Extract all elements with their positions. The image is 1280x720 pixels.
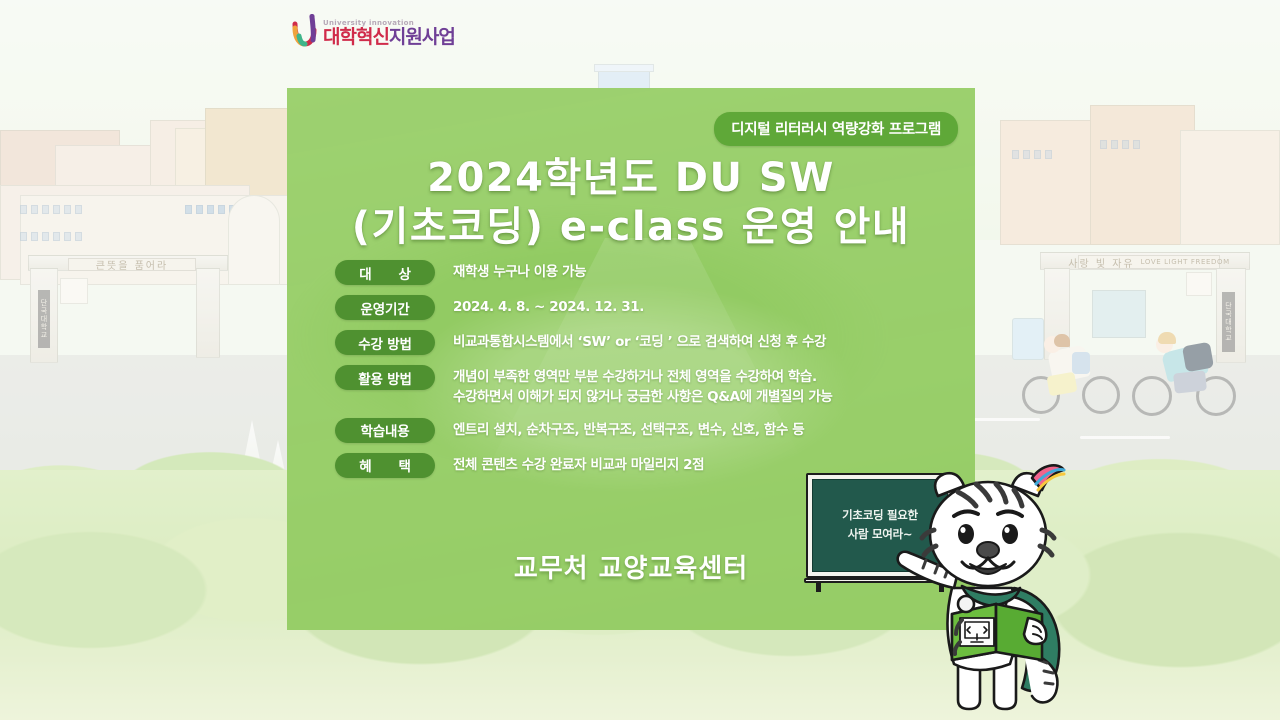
info-value-usage-method: 개념이 부족한 영역만 부분 수강하거나 전체 영역을 수강하여 학습. 수강하… (435, 365, 935, 408)
logo-kr-label: 대학혁신지원사업 (323, 28, 455, 47)
info-row: 활용 방법 개념이 부족한 영역만 부분 수강하거나 전체 영역을 수강하여 학… (335, 365, 935, 408)
poster-canvas: 큰뜻을 품어라 단국대학교 사랑 빛 자유 LOVE LIGHT FREEDOM… (0, 0, 1280, 720)
info-value-benefit: 전체 콘텐츠 수강 완료자 비교과 마일리지 2점 (435, 453, 935, 475)
info-value-line: 2024. 4. 8. ~ 2024. 12. 31. (453, 297, 935, 317)
program-badge: 디지털 리터러시 역량강화 프로그램 (714, 112, 958, 146)
info-value-line: 비교과통합시스템에서 ‘SW’ or ‘코딩 ’ 으로 검색하여 신청 후 수강 (453, 332, 935, 352)
page-title: 2024학년도 DU SW (기초코딩) e-class 운영 안내 (287, 154, 975, 252)
page-title-line2: (기초코딩) e-class 운영 안내 (287, 203, 975, 252)
info-value-enrollment-method: 비교과통합시스템에서 ‘SW’ or ‘코딩 ’ 으로 검색하여 신청 후 수강 (435, 330, 935, 352)
info-label-curriculum: 학습내용 (335, 418, 435, 443)
ui-logo-mark-icon (292, 14, 318, 48)
info-value-line: 엔트리 설치, 순차구조, 반복구조, 선택구조, 변수, 신호, 함수 등 (453, 420, 935, 440)
white-tiger-mascot (896, 438, 1106, 720)
info-value-line: 재학생 누구나 이용 가능 (453, 262, 935, 282)
info-label-enrollment-method: 수강 방법 (335, 330, 435, 355)
logo-kr-part2: 지원사업 (389, 26, 455, 48)
info-row: 대 상 재학생 누구나 이용 가능 (335, 260, 935, 285)
info-value-target: 재학생 누구나 이용 가능 (435, 260, 935, 282)
info-label-period: 운영기간 (335, 295, 435, 320)
university-innovation-logo: University innovation 대학혁신지원사업 (292, 14, 455, 48)
info-label-usage-method: 활용 방법 (335, 365, 435, 390)
info-value-period: 2024. 4. 8. ~ 2024. 12. 31. (435, 295, 935, 317)
blackboard-leg (816, 583, 821, 592)
info-row: 수강 방법 비교과통합시스템에서 ‘SW’ or ‘코딩 ’ 으로 검색하여 신… (335, 330, 935, 355)
info-value-curriculum: 엔트리 설치, 순차구조, 반복구조, 선택구조, 변수, 신호, 함수 등 (435, 418, 935, 440)
info-value-line: 개념이 부족한 영역만 부분 수강하거나 전체 영역을 수강하여 학습. (453, 367, 935, 387)
info-value-line: 수강하면서 이해가 되지 않거나 궁금한 사항은 Q&A에 개별질의 가능 (453, 387, 935, 407)
info-value-line: 전체 콘텐츠 수강 완료자 비교과 마일리지 2점 (453, 455, 935, 475)
info-row: 운영기간 2024. 4. 8. ~ 2024. 12. 31. (335, 295, 935, 320)
info-label-target: 대 상 (335, 260, 435, 285)
logo-kr-part1: 대학혁신 (323, 26, 389, 48)
info-table: 대 상 재학생 누구나 이용 가능 운영기간 2024. 4. 8. ~ 202… (335, 260, 935, 488)
info-row: 학습내용 엔트리 설치, 순차구조, 반복구조, 선택구조, 변수, 신호, 함… (335, 418, 935, 443)
page-title-line1: 2024학년도 DU SW (287, 154, 975, 203)
info-label-benefit: 혜 택 (335, 453, 435, 478)
